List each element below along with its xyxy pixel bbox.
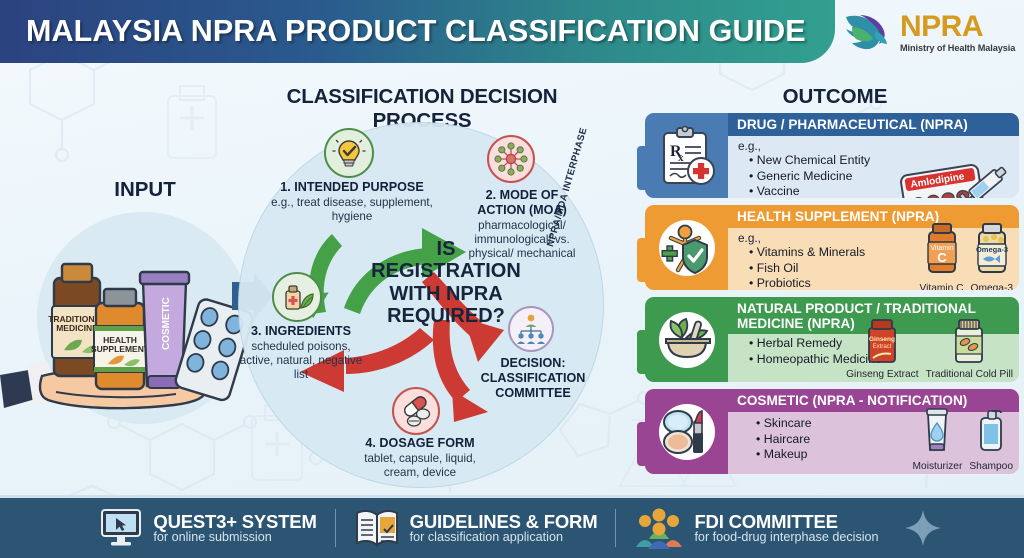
footer-subtitle: for classification application [410,531,598,544]
outcome-eg-supplement: e.g., [738,232,865,245]
person-shield-plus-icon [656,217,718,279]
pills-capsule-icon [392,387,440,435]
step-1-sub: e.g., treat disease, supplement, hygiene [264,196,440,224]
outcome-body-supplement: e.g., Vitamins & Minerals Fish Oil Probi… [728,228,1019,290]
outcome-content-drug: DRUG / PHARMACEUTICAL (NPRA) e.g., New C… [728,113,1019,198]
outcome-list-supplement: Vitamins & Minerals Fish Oil Probiotics [738,245,865,290]
sparkle-icon [903,508,943,548]
footer-title: FDI COMMITTEE [694,512,878,531]
receptor-molecule-icon [487,135,535,183]
footer-subtitle: for food-drug interphase decision [694,531,878,544]
logo-name: NPRA [900,12,1015,42]
list-item: New Chemical Entity [749,153,870,168]
outcome-thumbs-drug: Amlodipine [895,156,1013,198]
step-3-title: 3. INGREDIENTS [236,324,366,339]
svg-text:Ginseng: Ginseng [869,336,895,343]
omega3-bottle-icon: Omega-3 [972,220,1012,278]
svg-text:Extract: Extract [873,344,892,350]
step-2-title: 2. MODE OF ACTION (MOA) [462,188,582,218]
footer-title: QUEST3+ SYSTEM [153,512,316,531]
footer-item-quest3[interactable]: QUEST3+ SYSTEM for online submission [81,507,334,549]
bottle-leaf-icon [272,272,322,322]
page-title: MALAYSIA NPRA PRODUCT CLASSIFICATION GUI… [0,14,806,49]
list-item: Skincare [756,416,812,431]
outcome-body-natural: Herbal Remedy Homeopathic Medicine Ginse… [728,334,1019,382]
svg-text:C: C [937,250,947,265]
lipstick-compact-icon [656,401,718,463]
bird-logo-icon [838,9,896,57]
outcome-icon-wrap-drug: R x [645,113,728,198]
list-item: Generic Medicine [749,169,870,184]
thumb-moisturizer: Moisturizer [913,406,963,473]
svg-text:MEDICINE: MEDICINE [56,323,98,333]
thumb-caption: Omega-3 [971,284,1013,290]
thumb-caption: Shampoo [969,462,1013,473]
outcome-section-title: OUTCOME [700,85,970,109]
process-step-4: 4. DOSAGE FORM tablet, capsule, liquid, … [345,436,495,480]
step-1-title: 1. INTENDED PURPOSE [264,180,440,195]
thumb-caption: Traditional Cold Pill [926,370,1013,381]
outcome-card-drug[interactable]: R x DRUG / PHARMACEUTICAL (NPRA) e.g., N… [645,113,1019,198]
thumb-cold-pill: Traditional Cold Pill [926,318,1013,381]
outcome-thumbs-cosmetic: Moisturizer Shampoo [913,406,1013,473]
step-4-sub: tablet, capsule, liquid, cream, device [345,452,495,480]
input-products-illustration: TRADITIONAL MEDICINE HEALTH SUPPLEMENT C… [0,200,270,450]
cold-pill-bottle-icon [950,318,988,364]
decision-title: DECISION: CLASSIFICATION COMMITTEE [478,356,588,401]
logo-tagline: Ministry of Health Malaysia [900,44,1015,53]
svg-text:Omega-3: Omega-3 [976,245,1008,254]
thumb-caption: Vitamin C [920,284,964,290]
outcome-card-natural[interactable]: NATURAL PRODUCT / TRADITIONAL MEDICINE (… [645,297,1019,382]
thumb-omega3: Omega-3 Omega-3 [971,220,1013,290]
lightbulb-check-icon [324,128,374,178]
thumb-caption: Moisturizer [913,462,963,473]
process-step-decision: DECISION: CLASSIFICATION COMMITTEE [478,356,588,401]
footer-title: GUIDELINES & FORM [410,512,598,531]
outcome-content-supplement: HEALTH SUPPLEMENT (NPRA) e.g., Vitamins … [728,205,1019,290]
footer-bar: QUEST3+ SYSTEM for online submission GUI… [0,495,1024,558]
page-header: MALAYSIA NPRA PRODUCT CLASSIFICATION GUI… [0,0,835,63]
outcome-body-cosmetic: Skincare Haircare Makeup Moisturizer [728,412,1019,474]
step-3-sub: scheduled poisons, active, natural, nega… [236,340,366,382]
thumb-shampoo: Shampoo [969,406,1013,473]
outcome-content-natural: NATURAL PRODUCT / TRADITIONAL MEDICINE (… [728,297,1019,382]
amlodipine-blister-icon: Amlodipine [895,156,1013,198]
list-item: Makeup [756,447,812,462]
step-2-sub: pharmacological/ immunological/ vs. phys… [462,219,582,261]
outcome-body-drug: e.g., New Chemical Entity Generic Medici… [728,136,1019,198]
vitamin-c-bottle-icon: Vitamin C [922,220,962,278]
process-step-3: 3. INGREDIENTS scheduled poisons, active… [236,324,366,382]
footer-subtitle: for online submission [153,531,316,544]
outcome-list-drug: New Chemical Entity Generic Medicine Vac… [738,153,870,198]
monitor-cursor-icon [99,507,143,549]
infographic-root: MALAYSIA NPRA PRODUCT CLASSIFICATION GUI… [0,0,1024,558]
outcome-thumbs-supplement: Vitamin C Vitamin C Omega-3 [920,220,1013,290]
rx-clipboard-cross-icon: R x [657,125,717,187]
mortar-pestle-leaf-icon [656,309,718,371]
footer-item-guidelines[interactable]: GUIDELINES & FORM for classification app… [336,507,616,549]
shampoo-bottle-icon [973,406,1009,456]
step-4-title: 4. DOSAGE FORM [345,436,495,451]
list-item: Haircare [756,432,812,447]
outcome-card-cosmetic[interactable]: COSMETIC (NPRA - NOTIFICATION) Skincare … [645,389,1019,474]
thumb-caption: Ginseng Extract [846,370,918,381]
list-item: Vitamins & Minerals [749,245,865,260]
outcome-icon-wrap-natural [645,297,728,382]
list-item: Vaccine [749,184,870,198]
open-book-icon [354,507,400,549]
people-group-icon [634,507,684,549]
moisturizer-tube-icon [919,406,955,456]
list-item: Fish Oil [749,261,865,276]
svg-text:COSMETIC: COSMETIC [161,297,172,350]
process-step-1: 1. INTENDED PURPOSE e.g., treat disease,… [264,180,440,224]
outcome-icon-wrap-supplement [645,205,728,290]
outcome-list-cosmetic: Skincare Haircare Makeup [738,416,812,462]
outcome-thumbs-natural: Ginseng Extract Ginseng Extract [846,318,1013,381]
outcome-eg-drug: e.g., [738,140,870,153]
thumb-vitamin-c: Vitamin C Vitamin C [920,220,964,290]
npra-logo: NPRA Ministry of Health Malaysia [838,6,1016,60]
outcome-title-drug: DRUG / PHARMACEUTICAL (NPRA) [728,113,1019,136]
outcome-icon-wrap-cosmetic [645,389,728,474]
process-step-2: 2. MODE OF ACTION (MOA) pharmacological/… [462,188,582,261]
org-chart-people-icon [508,306,554,352]
thumb-ginseng: Ginseng Extract Ginseng Extract [846,318,918,381]
outcome-card-supplement[interactable]: HEALTH SUPPLEMENT (NPRA) e.g., Vitamins … [645,205,1019,290]
footer-item-fdi[interactable]: FDI COMMITTEE for food-drug interphase d… [616,507,896,549]
ginseng-jar-icon: Ginseng Extract [863,318,901,364]
input-section-title: INPUT [60,178,230,202]
svg-text:SUPPLEMENT: SUPPLEMENT [91,344,150,354]
list-item: Probiotics [749,276,865,290]
outcome-content-cosmetic: COSMETIC (NPRA - NOTIFICATION) Skincare … [728,389,1019,474]
